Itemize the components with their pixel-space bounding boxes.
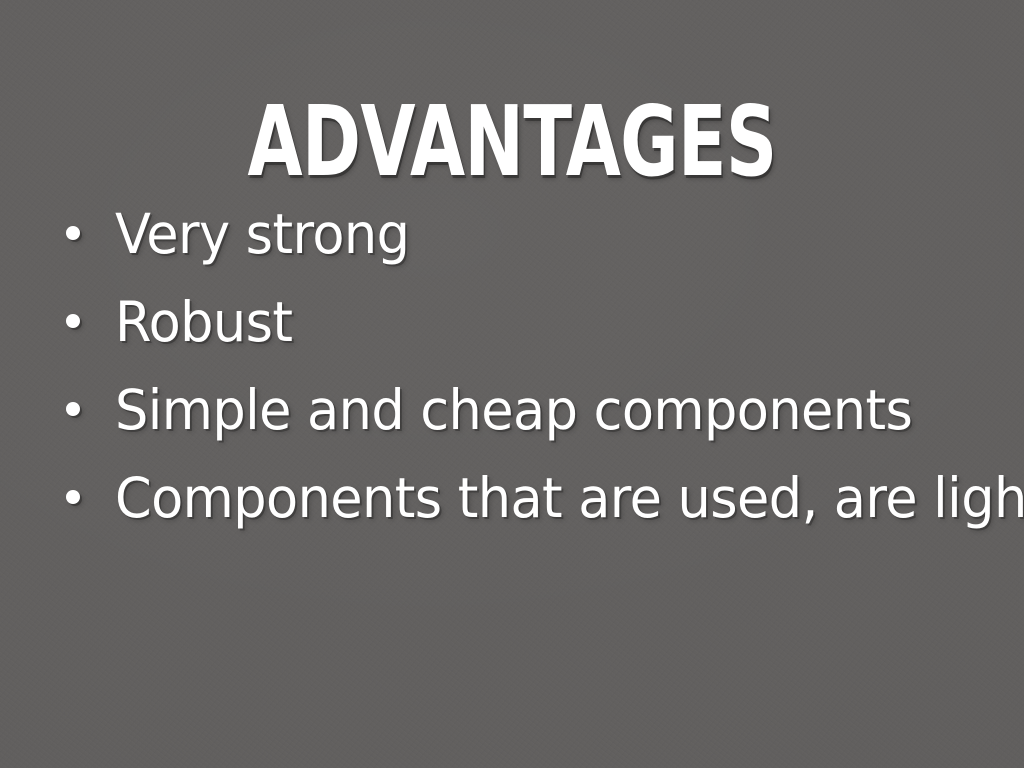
bullet-dot-icon (66, 226, 80, 240)
slide-canvas: ADVANTAGES Very strong Robust Simple and… (0, 0, 1024, 768)
bullet-dot-icon (66, 314, 80, 328)
list-item: Robust (60, 284, 1008, 372)
bullet-dot-icon (66, 490, 80, 504)
bullet-item-label: Simple and cheap components (115, 372, 968, 448)
list-item: Components that are used, are light (60, 460, 1008, 548)
slide-title: ADVANTAGES (136, 92, 889, 192)
bullet-list: Very strong Robust Simple and cheap comp… (60, 196, 1008, 548)
bullet-item-label: Very strong (115, 196, 968, 272)
bullet-dot-icon (66, 402, 80, 416)
list-item: Simple and cheap components (60, 372, 1008, 460)
bullet-item-label: Components that are used, are light (115, 460, 968, 536)
list-item: Very strong (60, 196, 1008, 284)
bullet-item-label: Robust (115, 284, 968, 360)
